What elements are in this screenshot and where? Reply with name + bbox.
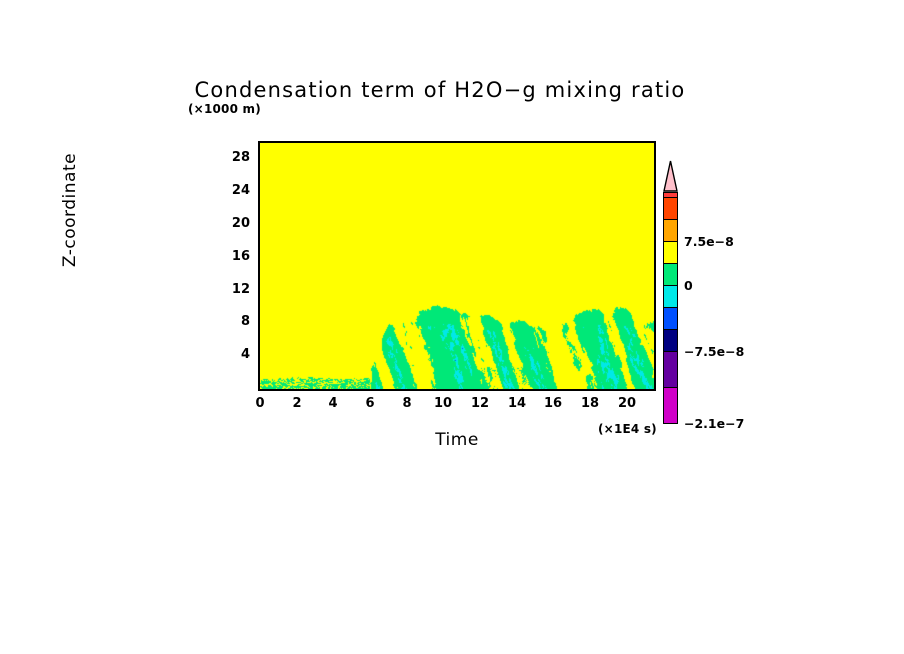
y-tick-label-8: 8 (210, 314, 250, 329)
x-tick-label-12: 12 (460, 396, 500, 411)
y-axis-units-label: (×1000 m) (188, 102, 261, 116)
page-title: Condensation term of H2O−g mixing ratio (180, 78, 700, 102)
x-tick-top-8 (0, 151, 2, 158)
x-tick-top-6 (0, 129, 2, 136)
x-axis-title: Time (258, 430, 656, 450)
colorbar-band-2 (663, 220, 678, 242)
colorbar-band-9 (663, 388, 678, 424)
x-tick-label-4: 4 (313, 396, 353, 411)
x-tick-top-14 (0, 217, 2, 224)
x-tick-0 (0, 56, 2, 63)
colorbar-band-8 (663, 352, 678, 388)
y-axis-title: Z-coordinate (60, 110, 80, 310)
x-tick-top-21 (0, 294, 2, 298)
x-tick-label-16: 16 (533, 396, 573, 411)
x-tick-top-12 (0, 195, 2, 202)
figure-canvas: Condensation term of H2O−g mixing ratio … (0, 0, 904, 654)
colorbar-band-3 (663, 242, 678, 264)
x-tick-label-6: 6 (350, 396, 390, 411)
colorbar-label-4: 0 (684, 278, 693, 293)
x-axis-units-label: (×1E4 s) (598, 422, 657, 436)
x-tick-label-14: 14 (497, 396, 537, 411)
x-tick-top-18 (0, 261, 2, 268)
y-tick-label-12: 12 (210, 282, 250, 297)
x-tick-12 (0, 188, 2, 195)
x-tick-20 (0, 276, 2, 283)
x-tick-label-10: 10 (423, 396, 463, 411)
x-tick-top-20 (0, 283, 2, 290)
x-tick-18 (0, 254, 2, 261)
x-tick-8 (0, 144, 2, 151)
x-tick-4 (0, 100, 2, 107)
x-tick-top-10 (0, 173, 2, 180)
y-tick-label-20: 20 (210, 216, 250, 231)
colorbar-band-5 (663, 286, 678, 308)
colorbar-band-7 (663, 330, 678, 352)
x-tick-top-16 (0, 239, 2, 246)
x-tick-6 (0, 122, 2, 129)
x-tick-10 (0, 166, 2, 173)
x-tick-16 (0, 232, 2, 239)
colorbar-band-1 (663, 198, 678, 220)
x-tick-2 (0, 78, 2, 85)
y-tick-label-16: 16 (210, 249, 250, 264)
x-tick-label-0: 0 (240, 396, 280, 411)
colorbar-band-4 (663, 264, 678, 286)
y-tick-label-28: 28 (210, 150, 250, 165)
colorbar-label-7: −7.5e−8 (684, 344, 744, 359)
colorbar-band-6 (663, 308, 678, 330)
contour-field (260, 143, 654, 389)
x-tick-top-2 (0, 85, 2, 92)
x-tick-top-0 (0, 63, 2, 70)
colorbar-arrow-icon (663, 160, 678, 192)
y-tick-label-4: 4 (210, 347, 250, 362)
x-tick-label-8: 8 (387, 396, 427, 411)
colorbar (663, 160, 678, 392)
contour-plot-area (258, 141, 656, 391)
colorbar-label-9: −2.1e−7 (684, 416, 744, 431)
y-tick-label-24: 24 (210, 183, 250, 198)
x-tick-top-4 (0, 107, 2, 114)
x-tick-label-2: 2 (277, 396, 317, 411)
colorbar-label-2: 7.5e−8 (684, 234, 734, 249)
x-tick-14 (0, 210, 2, 217)
x-tick-label-20: 20 (607, 396, 647, 411)
x-tick-label-18: 18 (570, 396, 610, 411)
